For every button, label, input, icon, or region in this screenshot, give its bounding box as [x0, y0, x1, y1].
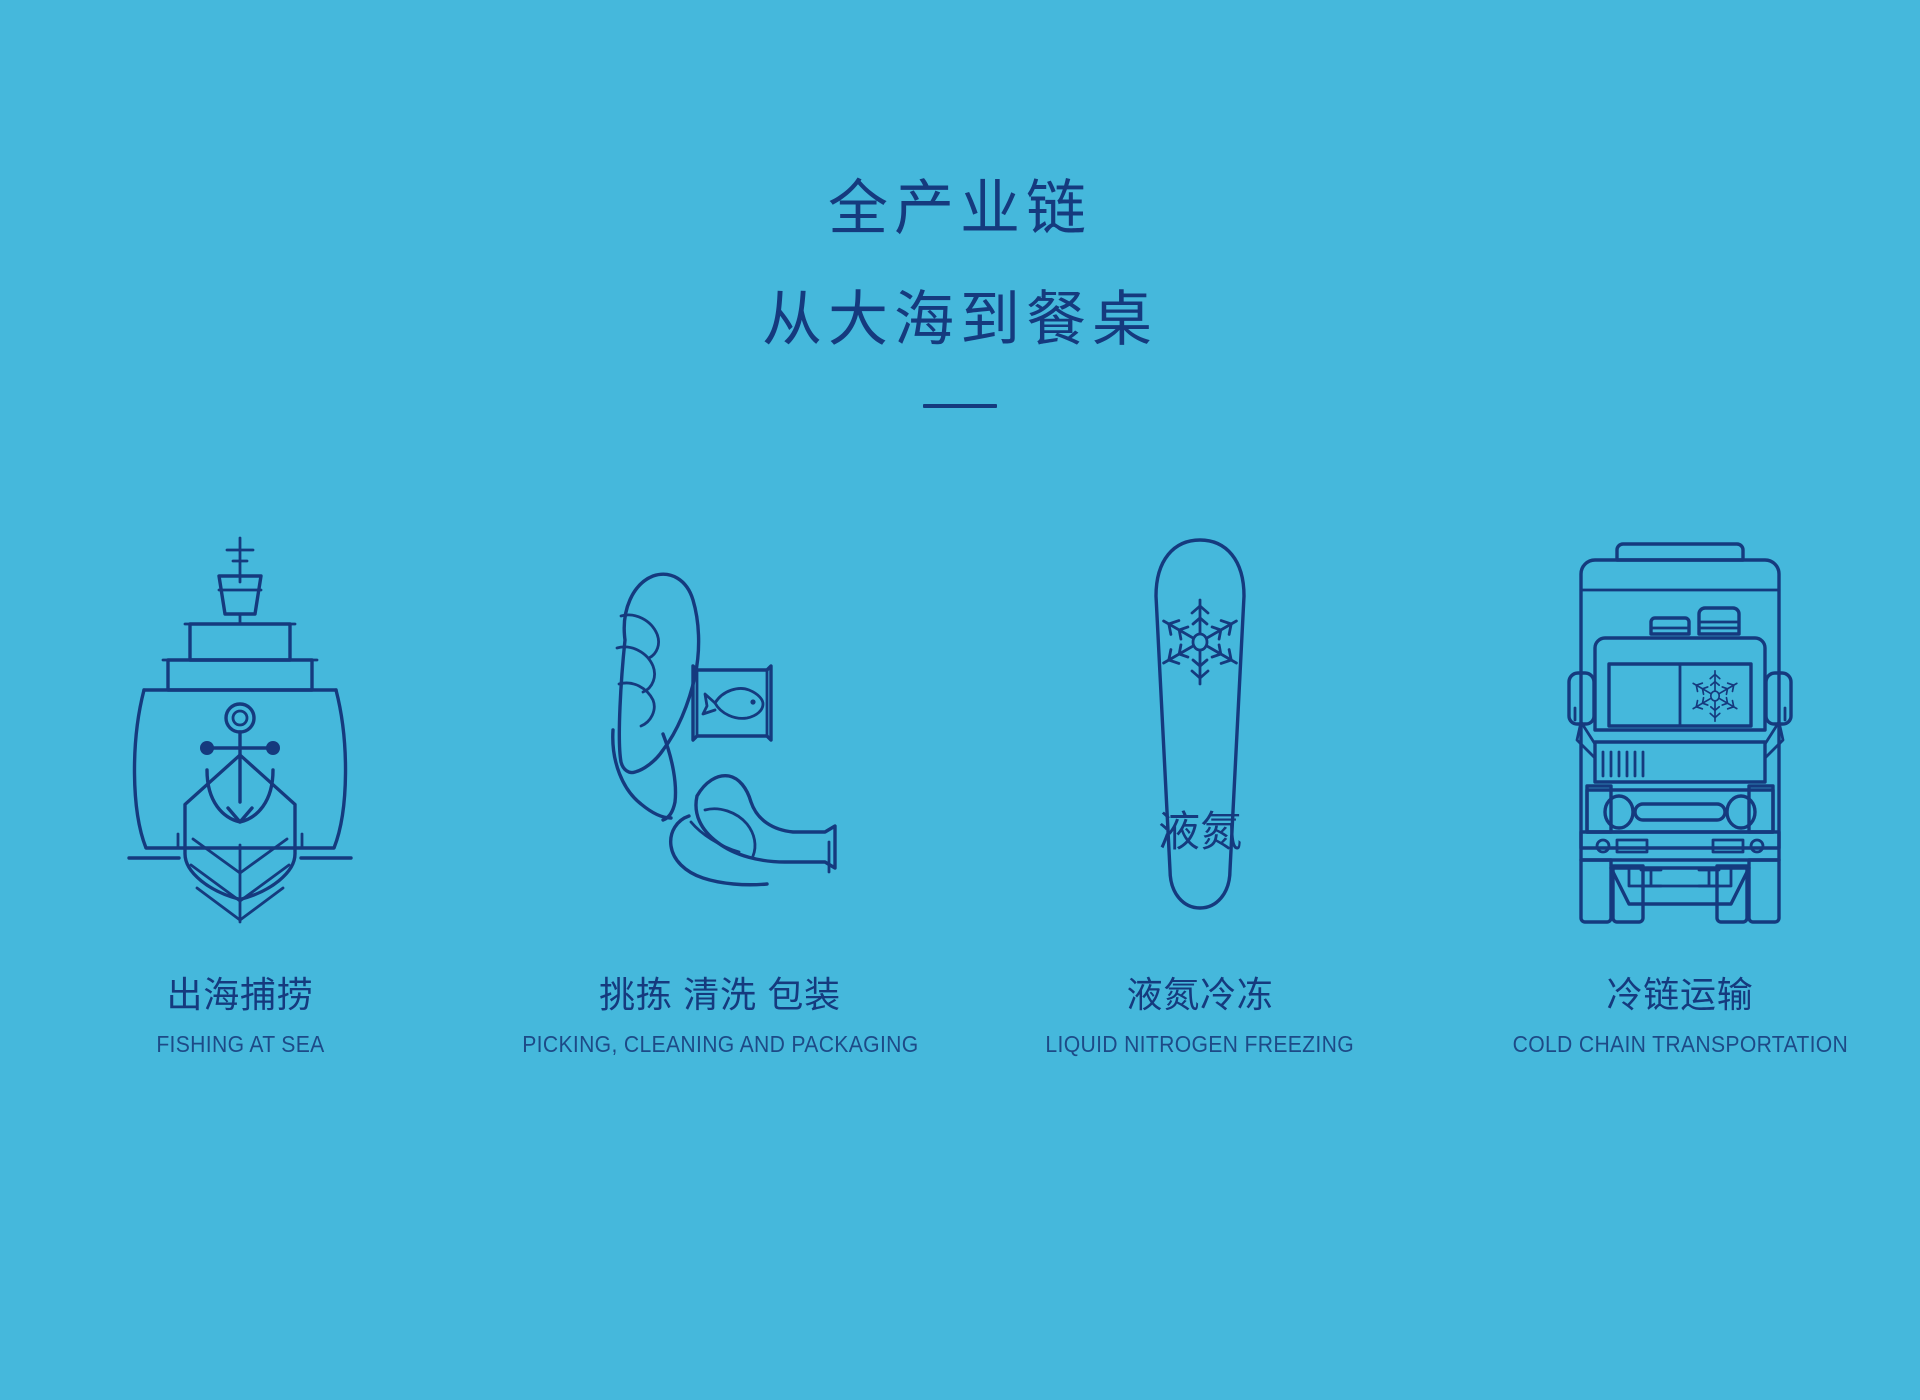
process-steps: 出海捕捞 FISHING AT SEA — [0, 530, 1920, 1170]
step-label-cn: 液氮冷冻 — [1032, 972, 1367, 1017]
infographic-page: 全产业链 从大海到餐桌 — [0, 0, 1920, 1400]
step-label-en: COLD CHAIN TRANSPORTATION — [1512, 1031, 1848, 1059]
step-labels: 挑拣 清洗 包装 PICKING, CLEANING AND PACKAGING — [505, 972, 936, 1059]
step-label-cn: 冷链运输 — [1498, 972, 1863, 1017]
step-label-en: FISHING AT SEA — [156, 1031, 324, 1059]
fishing-boat-icon-container — [115, 530, 365, 930]
header: 全产业链 从大海到餐桌 — [0, 178, 1920, 408]
step-labels: 出海捕捞 FISHING AT SEA — [149, 972, 332, 1059]
step-labels: 液氮冷冻 LIQUID NITROGEN FREEZING — [1032, 972, 1367, 1059]
liquid-nitrogen-tank-icon-container: 液氮 — [1130, 530, 1270, 930]
tank-label-text: 液氮 — [1158, 808, 1242, 855]
step-label-cn: 挑拣 清洗 包装 — [505, 972, 936, 1017]
page-title-line-1: 全产业链 — [0, 178, 1920, 241]
title-divider — [923, 404, 997, 408]
step-labels: 冷链运输 COLD CHAIN TRANSPORTATION — [1498, 972, 1863, 1059]
hands-fish-package-icon — [585, 530, 855, 930]
process-step-fishing-at-sea[interactable]: 出海捕捞 FISHING AT SEA — [0, 530, 480, 1170]
refrigerated-truck-icon-container — [1555, 530, 1805, 930]
snowflake-icon — [1691, 671, 1739, 721]
snowflake-icon — [1160, 600, 1241, 684]
step-label-en: PICKING, CLEANING AND PACKAGING — [522, 1031, 918, 1059]
fishing-boat-icon — [115, 530, 365, 930]
process-step-cold-chain-transportation[interactable]: 冷链运输 COLD CHAIN TRANSPORTATION — [1440, 530, 1920, 1170]
page-title-line-2: 从大海到餐桌 — [0, 289, 1920, 352]
refrigerated-truck-icon — [1555, 530, 1805, 930]
process-step-picking-cleaning-packaging[interactable]: 挑拣 清洗 包装 PICKING, CLEANING AND PACKAGING — [480, 530, 960, 1170]
step-label-cn: 出海捕捞 — [149, 972, 332, 1017]
hands-fish-package-icon-container — [585, 530, 855, 930]
liquid-nitrogen-tank-icon: 液氮 — [1130, 530, 1270, 930]
process-step-liquid-nitrogen-freezing[interactable]: 液氮 液氮冷冻 LIQUID NITROGEN FREEZING — [960, 530, 1440, 1170]
step-label-en: LIQUID NITROGEN FREEZING — [1046, 1031, 1355, 1059]
